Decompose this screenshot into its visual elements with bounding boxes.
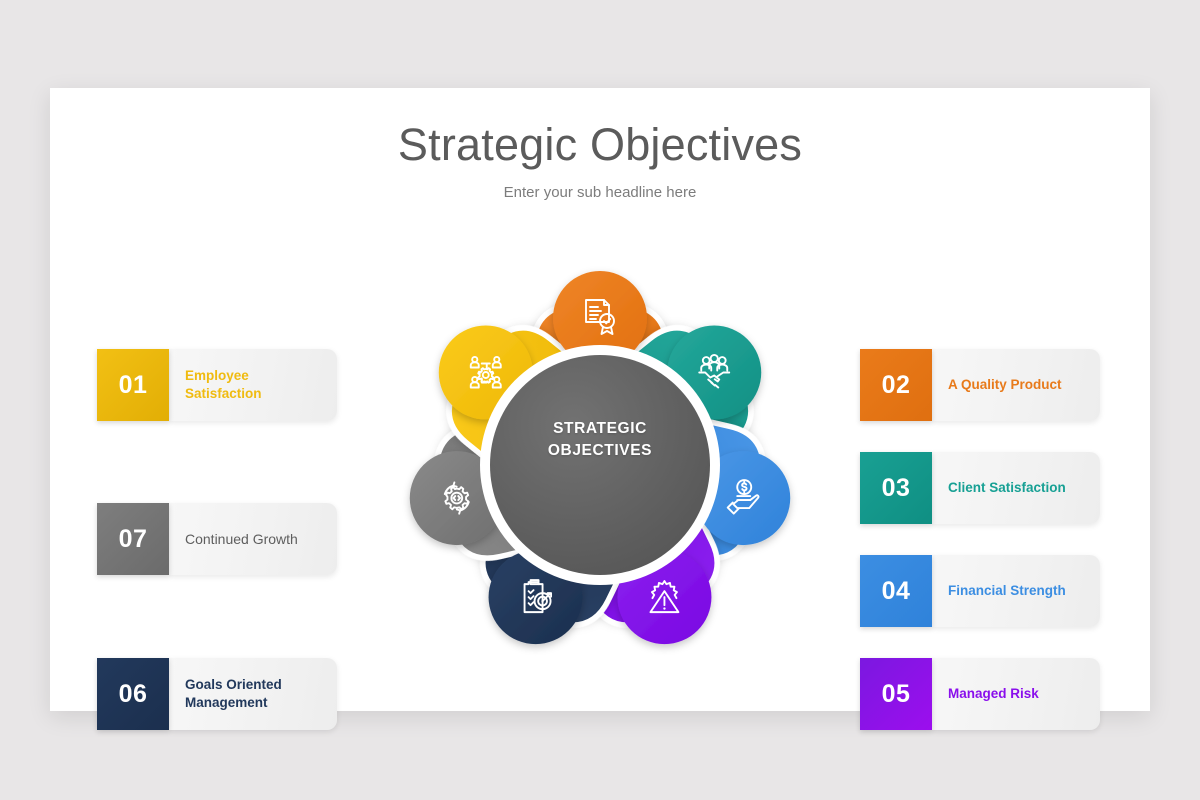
objective-row[interactable]: 01Employee Satisfaction [97,349,337,421]
objective-row[interactable]: 07Continued Growth [97,503,337,575]
objective-row[interactable]: 05Managed Risk [860,658,1100,730]
objective-number-chip: 01 [97,349,169,421]
objective-row[interactable]: 02A Quality Product [860,349,1100,421]
page-title: Strategic Objectives [50,120,1150,170]
header: Strategic Objectives Enter your sub head… [50,88,1150,201]
objective-label: Goals Oriented Management [185,676,282,712]
objective-label-body: Employee Satisfaction [169,349,337,421]
objective-number-chip: 07 [97,503,169,575]
objective-number-chip: 06 [97,658,169,730]
objective-label: Managed Risk [948,685,1039,703]
wheel-svg [350,218,850,698]
objective-label: Financial Strength [948,582,1066,600]
objective-row[interactable]: 04Financial Strength [860,555,1100,627]
objective-label-body: Continued Growth [169,503,337,575]
objective-number-chip: 02 [860,349,932,421]
slide-canvas: Strategic Objectives Enter your sub head… [50,88,1150,711]
objective-label: A Quality Product [948,376,1062,394]
hub-circle[interactable] [490,355,710,575]
objective-label: Continued Growth [185,530,298,549]
objective-number-chip: 04 [860,555,932,627]
objective-label-body: Goals Oriented Management [169,658,337,730]
page-subtitle: Enter your sub headline here [50,184,1150,201]
objective-label-body: Managed Risk [932,658,1100,730]
objective-row[interactable]: 03Client Satisfaction [860,452,1100,524]
objective-number-chip: 03 [860,452,932,524]
objective-number-chip: 05 [860,658,932,730]
objective-label-body: A Quality Product [932,349,1100,421]
strategic-objectives-wheel: STRATEGIC OBJECTIVES [350,218,850,698]
objective-row[interactable]: 06Goals Oriented Management [97,658,337,730]
objective-label: Client Satisfaction [948,479,1066,497]
objective-label-body: Financial Strength [932,555,1100,627]
objective-label: Employee Satisfaction [185,367,262,403]
objective-label-body: Client Satisfaction [932,452,1100,524]
